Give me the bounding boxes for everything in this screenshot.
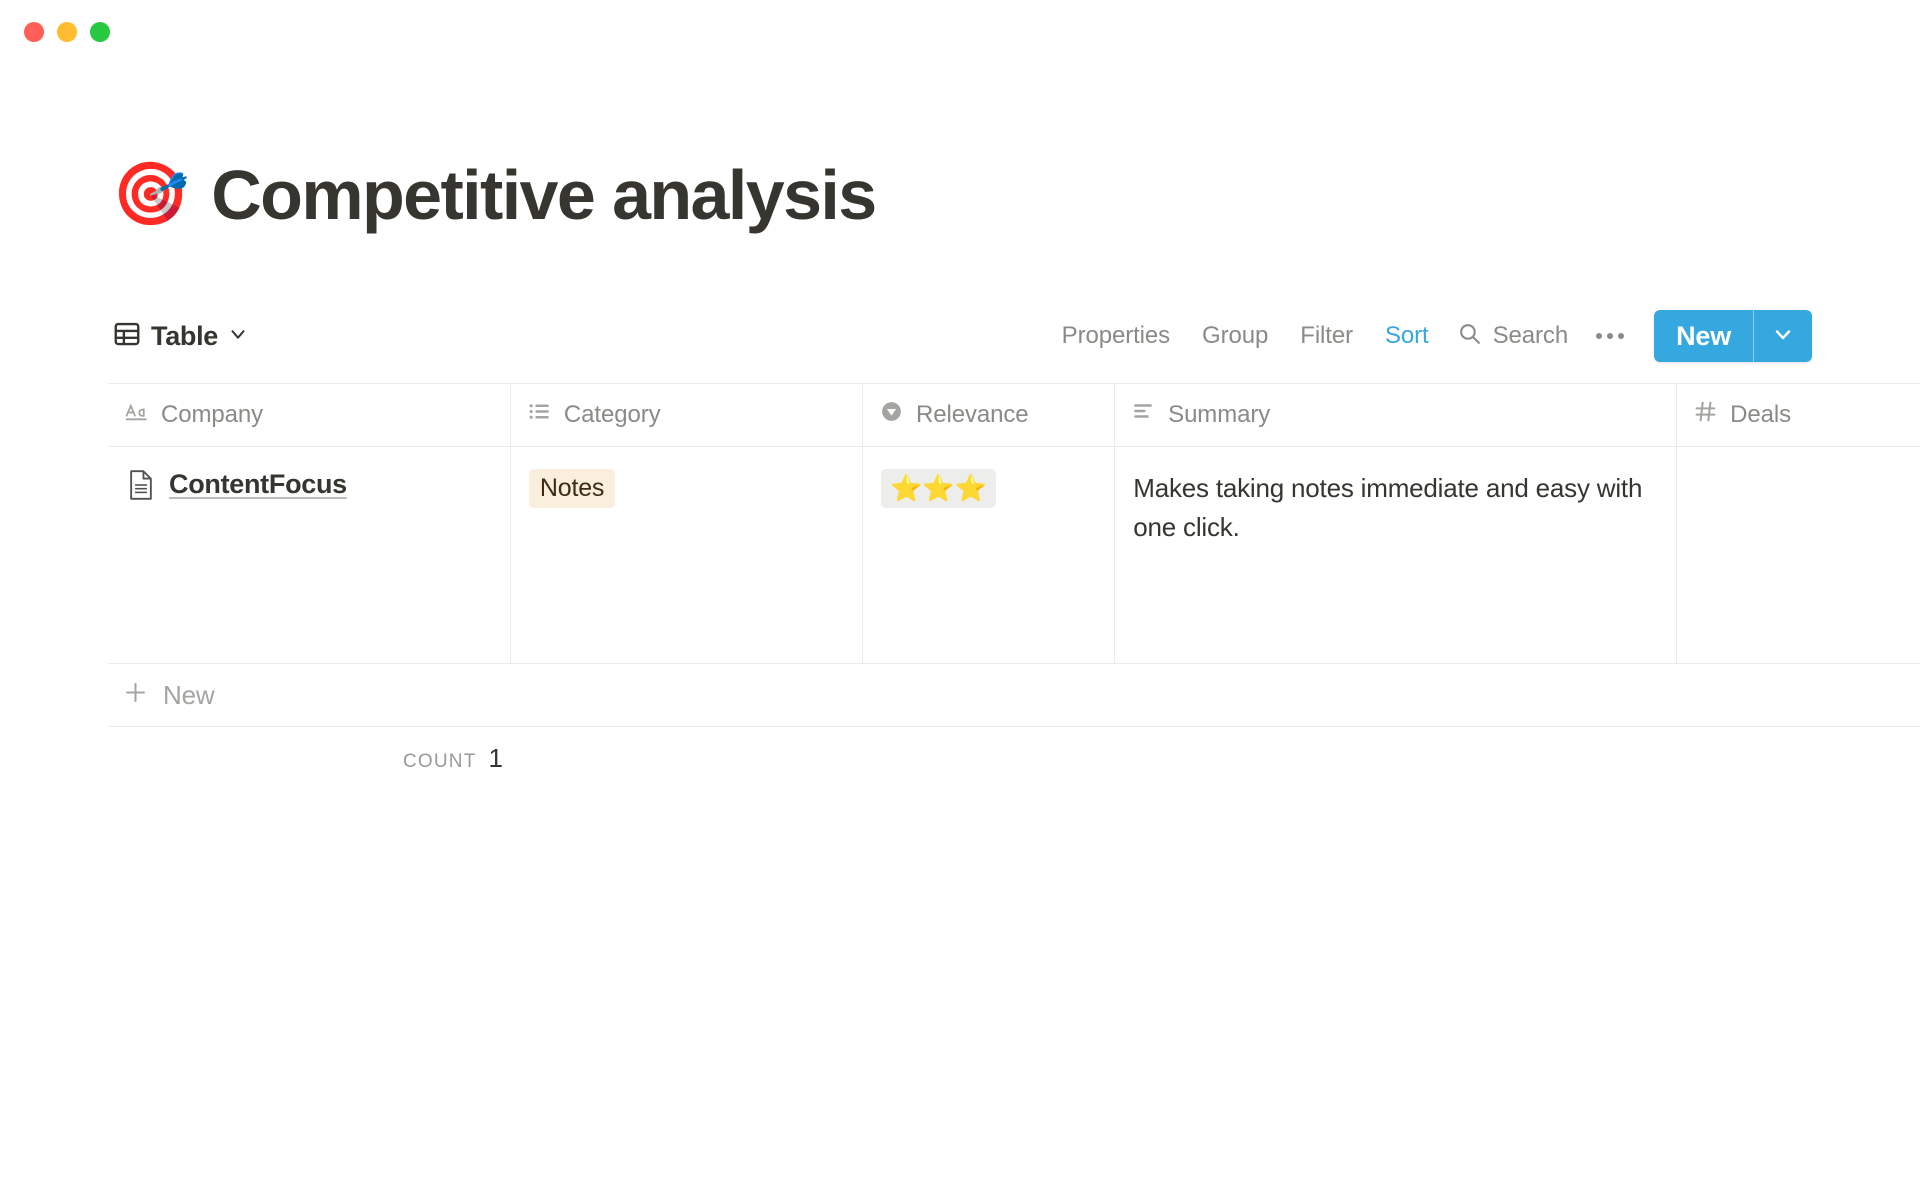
column-header-label: Deals [1730, 401, 1791, 429]
page-title[interactable]: Competitive analysis [211, 160, 875, 230]
cell-deals[interactable] [1677, 447, 1920, 663]
cell-relevance[interactable]: ⭐⭐⭐ [863, 447, 1115, 663]
column-header-company[interactable]: Company [108, 384, 511, 446]
table-header-row: Company Category [108, 383, 1920, 447]
new-button[interactable]: New [1654, 310, 1753, 362]
cell-company[interactable]: ContentFocus [108, 447, 511, 663]
search-icon [1457, 321, 1482, 351]
more-horizontal-icon [1596, 333, 1602, 339]
cell-category[interactable]: Notes [511, 447, 863, 663]
aggregate-count-company[interactable]: COUNT 1 [108, 743, 541, 774]
add-new-row-button[interactable]: New [108, 664, 1920, 727]
plus-icon [122, 679, 149, 711]
notion-page: 🎯 Competitive analysis Table Pr [0, 0, 1920, 1200]
database-table: Company Category [108, 383, 1920, 789]
view-switcher-table[interactable]: Table [112, 319, 249, 354]
column-header-label: Category [564, 401, 661, 429]
page-document-icon [126, 469, 156, 506]
filter-button[interactable]: Filter [1284, 318, 1369, 354]
aggregate-value: 1 [489, 743, 503, 774]
maximize-button[interactable] [90, 22, 110, 42]
page-header: 🎯 Competitive analysis [112, 160, 876, 230]
cell-summary[interactable]: Makes taking notes immediate and easy wi… [1115, 447, 1677, 663]
group-button[interactable]: Group [1186, 318, 1284, 354]
category-tag[interactable]: Notes [529, 469, 615, 508]
column-header-label: Relevance [916, 401, 1029, 429]
new-button-dropdown[interactable] [1753, 310, 1812, 362]
properties-button[interactable]: Properties [1046, 318, 1186, 354]
column-header-summary[interactable]: Summary [1115, 384, 1677, 446]
minimize-button[interactable] [57, 22, 77, 42]
table-grid-icon [112, 319, 142, 354]
column-header-category[interactable]: Category [511, 384, 863, 446]
column-header-relevance[interactable]: Relevance [863, 384, 1115, 446]
sort-button[interactable]: Sort [1369, 318, 1445, 354]
select-list-icon [527, 399, 552, 431]
table-footer: COUNT 1 [108, 727, 1920, 789]
more-horizontal-icon [1618, 333, 1624, 339]
window-traffic-lights [24, 22, 110, 42]
column-header-label: Summary [1168, 401, 1270, 429]
column-header-label: Company [161, 401, 263, 429]
aggregate-label: COUNT [403, 751, 477, 773]
close-button[interactable] [24, 22, 44, 42]
toolbar-actions: Properties Group Filter Sort Search [1046, 310, 1812, 362]
column-header-deals[interactable]: Deals [1677, 384, 1920, 446]
select-circle-icon [879, 399, 904, 431]
chevron-down-icon [227, 323, 249, 350]
more-horizontal-icon [1607, 333, 1613, 339]
text-lines-icon [1131, 399, 1156, 431]
company-name-link[interactable]: ContentFocus [169, 469, 347, 500]
add-new-row-label: New [163, 680, 214, 711]
relevance-tag[interactable]: ⭐⭐⭐ [881, 469, 996, 508]
page-emoji-icon[interactable]: 🎯 [112, 164, 189, 226]
number-hash-icon [1693, 399, 1718, 431]
text-type-icon [124, 399, 149, 431]
view-switcher-label: Table [151, 321, 218, 352]
new-button-group: New [1654, 310, 1812, 362]
search-button[interactable]: Search [1445, 317, 1582, 355]
chevron-down-icon [1771, 322, 1795, 351]
summary-text: Makes taking notes immediate and easy wi… [1133, 469, 1658, 546]
table-row: ContentFocus Notes ⭐⭐⭐ Makes taking note… [108, 447, 1920, 664]
database-toolbar: Table Properties Group Filter Sort [112, 308, 1812, 364]
more-options-button[interactable] [1582, 329, 1642, 343]
search-label: Search [1493, 322, 1568, 350]
